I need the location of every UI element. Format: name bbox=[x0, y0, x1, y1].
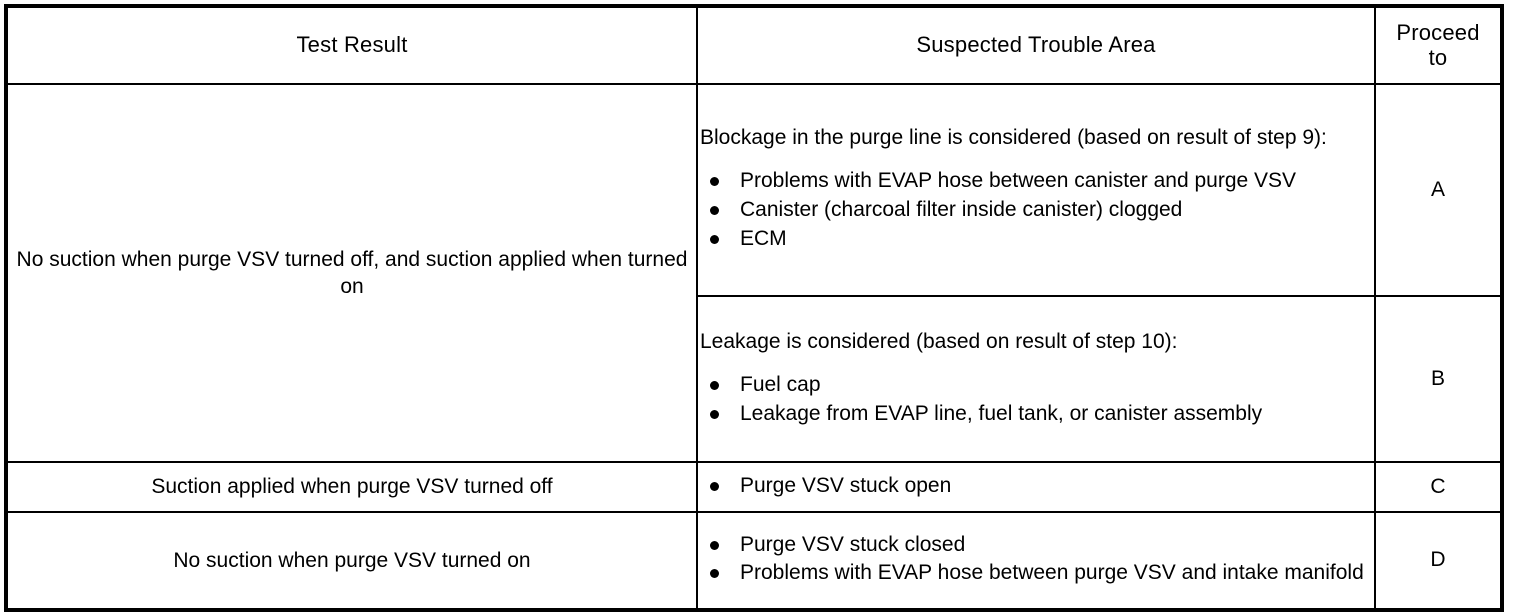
bullet-dot-icon bbox=[710, 541, 719, 550]
column-header-proceed-to: Proceed to bbox=[1375, 6, 1502, 84]
table-row: No suction when purge VSV turned off, an… bbox=[6, 84, 1502, 296]
diagnostic-table: Test Result Suspected Trouble Area Proce… bbox=[4, 4, 1504, 612]
bullet-dot-icon bbox=[710, 410, 719, 419]
cell-suspected-trouble-area: Leakage is considered (based on result o… bbox=[697, 296, 1375, 462]
cell-suspected-trouble-area: Blockage in the purge line is considered… bbox=[697, 84, 1375, 296]
list-item: Purge VSV stuck open bbox=[698, 473, 1374, 500]
list-item-label: Canister (charcoal filter inside caniste… bbox=[740, 198, 1182, 221]
list-item: Canister (charcoal filter inside caniste… bbox=[698, 197, 1374, 224]
table-row: No suction when purge VSV turned on Purg… bbox=[6, 512, 1502, 610]
trouble-lead-text: Blockage in the purge line is considered… bbox=[698, 125, 1374, 152]
cell-test-result: No suction when purge VSV turned off, an… bbox=[6, 84, 697, 462]
cell-test-result: Suction applied when purge VSV turned of… bbox=[6, 462, 697, 512]
list-item-label: Fuel cap bbox=[740, 373, 821, 396]
diagnostic-table-container: Test Result Suspected Trouble Area Proce… bbox=[4, 4, 1500, 612]
list-item: Problems with EVAP hose between purge VS… bbox=[698, 560, 1374, 587]
cell-test-result: No suction when purge VSV turned on bbox=[6, 512, 697, 610]
list-item: Leakage from EVAP line, fuel tank, or ca… bbox=[698, 401, 1374, 428]
trouble-bullet-list: Purge VSV stuck open bbox=[698, 473, 1374, 500]
table-header: Test Result Suspected Trouble Area Proce… bbox=[6, 6, 1502, 84]
list-item-label: ECM bbox=[740, 227, 787, 250]
list-item: Fuel cap bbox=[698, 372, 1374, 399]
bullet-dot-icon bbox=[710, 482, 719, 491]
bullet-dot-icon bbox=[710, 177, 719, 186]
proceed-to-line-1: Proceed bbox=[1396, 20, 1479, 45]
column-header-suspected-trouble-area: Suspected Trouble Area bbox=[697, 6, 1375, 84]
list-item-label: Purge VSV stuck closed bbox=[740, 533, 965, 556]
header-row: Test Result Suspected Trouble Area Proce… bbox=[6, 6, 1502, 84]
column-header-test-result: Test Result bbox=[6, 6, 697, 84]
trouble-bullet-list: Fuel cap Leakage from EVAP line, fuel ta… bbox=[698, 372, 1374, 428]
list-item-label: Problems with EVAP hose between purge VS… bbox=[740, 561, 1364, 584]
cell-suspected-trouble-area: Purge VSV stuck closed Problems with EVA… bbox=[697, 512, 1375, 610]
cell-proceed-to: D bbox=[1375, 512, 1502, 610]
bullet-dot-icon bbox=[710, 381, 719, 390]
trouble-lead-text: Leakage is considered (based on result o… bbox=[698, 329, 1374, 356]
list-item-label: Problems with EVAP hose between canister… bbox=[740, 169, 1296, 192]
cell-proceed-to: A bbox=[1375, 84, 1502, 296]
trouble-bullet-list: Purge VSV stuck closed Problems with EVA… bbox=[698, 532, 1374, 588]
cell-proceed-to: C bbox=[1375, 462, 1502, 512]
list-item: ECM bbox=[698, 226, 1374, 253]
list-item-label: Leakage from EVAP line, fuel tank, or ca… bbox=[740, 402, 1262, 425]
bullet-dot-icon bbox=[710, 235, 719, 244]
list-item: Purge VSV stuck closed bbox=[698, 532, 1374, 559]
proceed-to-line-2: to bbox=[1429, 45, 1448, 70]
table-row: Suction applied when purge VSV turned of… bbox=[6, 462, 1502, 512]
trouble-bullet-list: Problems with EVAP hose between canister… bbox=[698, 168, 1374, 253]
cell-suspected-trouble-area: Purge VSV stuck open bbox=[697, 462, 1375, 512]
list-item-label: Purge VSV stuck open bbox=[740, 474, 951, 497]
bullet-dot-icon bbox=[710, 206, 719, 215]
table-body: No suction when purge VSV turned off, an… bbox=[6, 84, 1502, 610]
cell-proceed-to: B bbox=[1375, 296, 1502, 462]
bullet-dot-icon bbox=[710, 569, 719, 578]
list-item: Problems with EVAP hose between canister… bbox=[698, 168, 1374, 195]
